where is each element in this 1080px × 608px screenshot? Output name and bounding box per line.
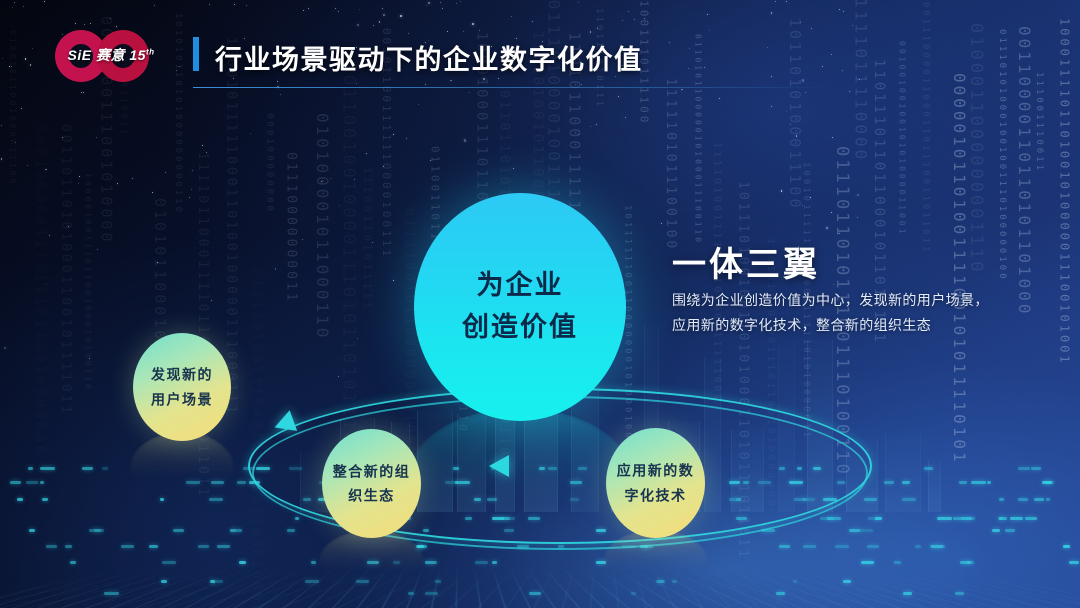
satellite-2-line-2: 织生态 [322, 484, 421, 509]
logo-wordmark-text: SiE 赛意 [68, 47, 125, 63]
satellite-3-reflection [603, 530, 708, 592]
side-panel-desc-line-2: 应用新的数字化技术，整合新的组织生态 [672, 313, 1002, 338]
side-panel-desc-line-1: 围绕为企业创造价值为中心，发现新的用户场景， [672, 288, 1002, 313]
satellite-1-line-1: 发现新的 [133, 363, 231, 388]
title-accent-bar [193, 37, 199, 71]
core-circle-reflection [408, 408, 632, 548]
core-circle-line-1: 为企业 [414, 265, 626, 307]
page-title: 行业场景驱动下的企业数字化价值 [215, 38, 643, 77]
satellite-2-label: 整合新的组 织生态 [322, 459, 421, 508]
logo-anniversary-suffix: th [146, 47, 155, 56]
satellite-circle-new-digital-tech[interactable]: 应用新的数 字化技术 [606, 428, 705, 538]
title-underline [193, 87, 828, 88]
satellite-2-reflection [319, 530, 424, 592]
side-panel-heading: 一体三翼 [672, 237, 820, 286]
core-circle-line-2: 创造价值 [414, 307, 626, 349]
sie-logo: SiE 赛意 15th [55, 28, 163, 84]
satellite-circle-new-user-scenarios[interactable]: 发现新的 用户场景 [133, 333, 231, 441]
satellite-3-label: 应用新的数 字化技术 [606, 459, 705, 508]
satellite-circle-new-org-ecosystem[interactable]: 整合新的组 织生态 [322, 429, 421, 538]
core-circle-create-value[interactable]: 为企业 创造价值 [414, 193, 626, 421]
core-circle-label: 为企业 创造价值 [414, 265, 626, 349]
satellite-1-label: 发现新的 用户场景 [133, 363, 231, 412]
presentation-slide: 0100101100100001110000010000011101110110… [0, 0, 1080, 608]
logo-wordmark: SiE 赛意 15th [59, 45, 163, 65]
satellite-2-line-1: 整合新的组 [322, 459, 421, 484]
logo-anniversary: 15 [129, 47, 146, 63]
satellite-1-reflection [130, 432, 234, 502]
satellite-3-line-1: 应用新的数 [606, 459, 705, 484]
satellite-3-line-2: 字化技术 [606, 483, 705, 508]
side-panel-description: 围绕为企业创造价值为中心，发现新的用户场景， 应用新的数字化技术，整合新的组织生… [672, 288, 1002, 337]
satellite-1-line-2: 用户场景 [133, 387, 231, 412]
